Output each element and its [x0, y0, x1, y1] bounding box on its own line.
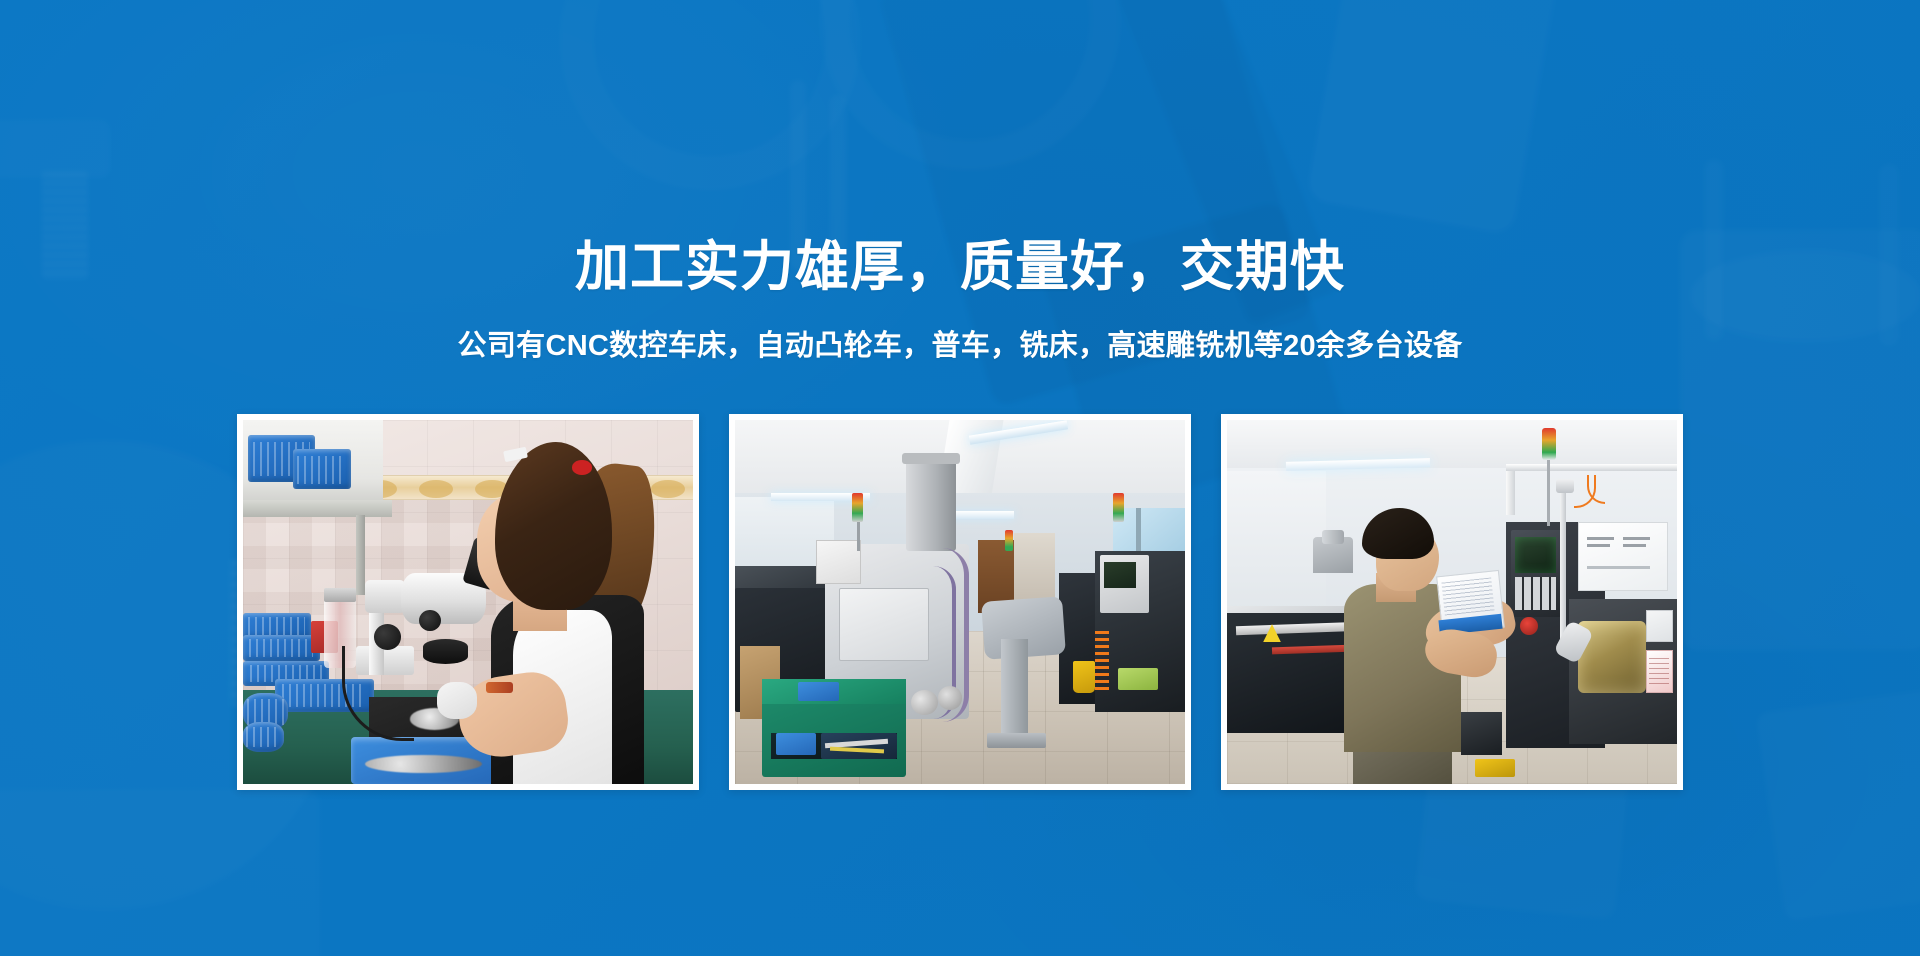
gallery-item-2[interactable]: [729, 414, 1191, 790]
p3-chart-line: [1623, 544, 1646, 547]
p2-conveyor-base: [987, 733, 1046, 748]
p2-fluorescent-light: [947, 511, 1015, 518]
p2-stack-light-pole: [857, 519, 860, 552]
p1-blue-bowl: [243, 722, 284, 751]
p3-safety-notice-sticker: [1646, 650, 1673, 694]
photo-operator-at-cnc-panel: [1227, 420, 1677, 784]
p3-stack-light-pole: [1547, 460, 1551, 526]
p1-blue-basket: [293, 449, 352, 489]
p3-chart-line: [1587, 544, 1610, 547]
p2-machine-control-panel: [816, 540, 861, 584]
p3-chart-line: [1587, 566, 1650, 569]
p1-wall-motif: [651, 480, 685, 498]
p3-emergency-stop-button: [1520, 617, 1538, 635]
page-title: 加工实力雄厚，质量好，交期快: [575, 238, 1345, 296]
p3-stack-light: [1542, 428, 1556, 461]
p2-yellow-bucket: [1073, 661, 1096, 694]
p1-microscope-arm: [365, 580, 406, 613]
p1-hair-tie: [572, 460, 592, 475]
p1-shelf-edge: [243, 500, 392, 516]
p2-main-machine-door: [839, 588, 929, 661]
p1-gloved-hand: [437, 682, 478, 718]
p2-green-tray: [1118, 668, 1159, 690]
gallery-item-1[interactable]: [237, 414, 699, 790]
p3-work-lamp-pole: [1560, 482, 1566, 639]
p2-mist-collector-cap: [902, 453, 961, 464]
p3-chart-line: [1623, 537, 1650, 540]
p2-machine-drum: [911, 690, 938, 715]
p3-wall-process-chart: [1578, 522, 1668, 591]
photo-microscope-inspection: [243, 420, 693, 784]
p2-cart-blue-bin: [798, 682, 839, 700]
p1-bottle-cap: [324, 588, 356, 603]
p2-stack-light-right: [1113, 493, 1124, 522]
p1-shelf-leg: [356, 515, 365, 595]
p2-conveyor-leg: [1001, 639, 1028, 741]
p1-blue-basket: [243, 635, 320, 660]
photo-cnc-workshop: [735, 420, 1185, 784]
p2-cart-blue-bin-2: [776, 733, 817, 755]
p1-bracelet: [486, 682, 513, 693]
gallery-item-3[interactable]: [1221, 414, 1683, 790]
p2-machine-drum-2: [938, 686, 963, 710]
p2-right-machine-screen: [1104, 562, 1136, 587]
p2-orange-air-coil: [1095, 631, 1109, 689]
p3-chart-line: [1587, 537, 1614, 540]
p3-cnc-screen: [1515, 537, 1556, 573]
p1-wall-motif: [419, 480, 453, 498]
p3-cnc-keypad: [1515, 577, 1556, 610]
photo-gallery: [237, 414, 1683, 790]
p3-wall-left-panel: [1227, 471, 1326, 609]
p3-technical-drawing: [1441, 578, 1494, 616]
p3-machine-sticker: [1646, 610, 1673, 643]
p2-stack-light-left: [852, 493, 863, 522]
p3-toolbox: [1461, 712, 1502, 756]
p3-yellow-tool: [1475, 759, 1516, 777]
page-subtitle: 公司有CNC数控车床，自动凸轮车，普车，铣床，高速雕铣机等20余多台设备: [458, 322, 1463, 364]
p3-extraction-duct: [1322, 530, 1345, 545]
p3-ceiling-pipe-drop: [1506, 471, 1515, 515]
p1-microscope-objective: [423, 639, 468, 664]
p2-stack-light-center: [1005, 530, 1013, 552]
p3-work-lamp-head: [1556, 479, 1574, 494]
p1-microscope-base: [356, 646, 415, 675]
p1-microscope-focus-knob: [374, 624, 401, 649]
p3-ceiling-pipe: [1506, 464, 1677, 471]
p2-mist-collector: [906, 457, 956, 552]
banner-content: 加工实力雄厚，质量好，交期快 公司有CNC数控车床，自动凸轮车，普车，铣床，高速…: [0, 0, 1920, 956]
